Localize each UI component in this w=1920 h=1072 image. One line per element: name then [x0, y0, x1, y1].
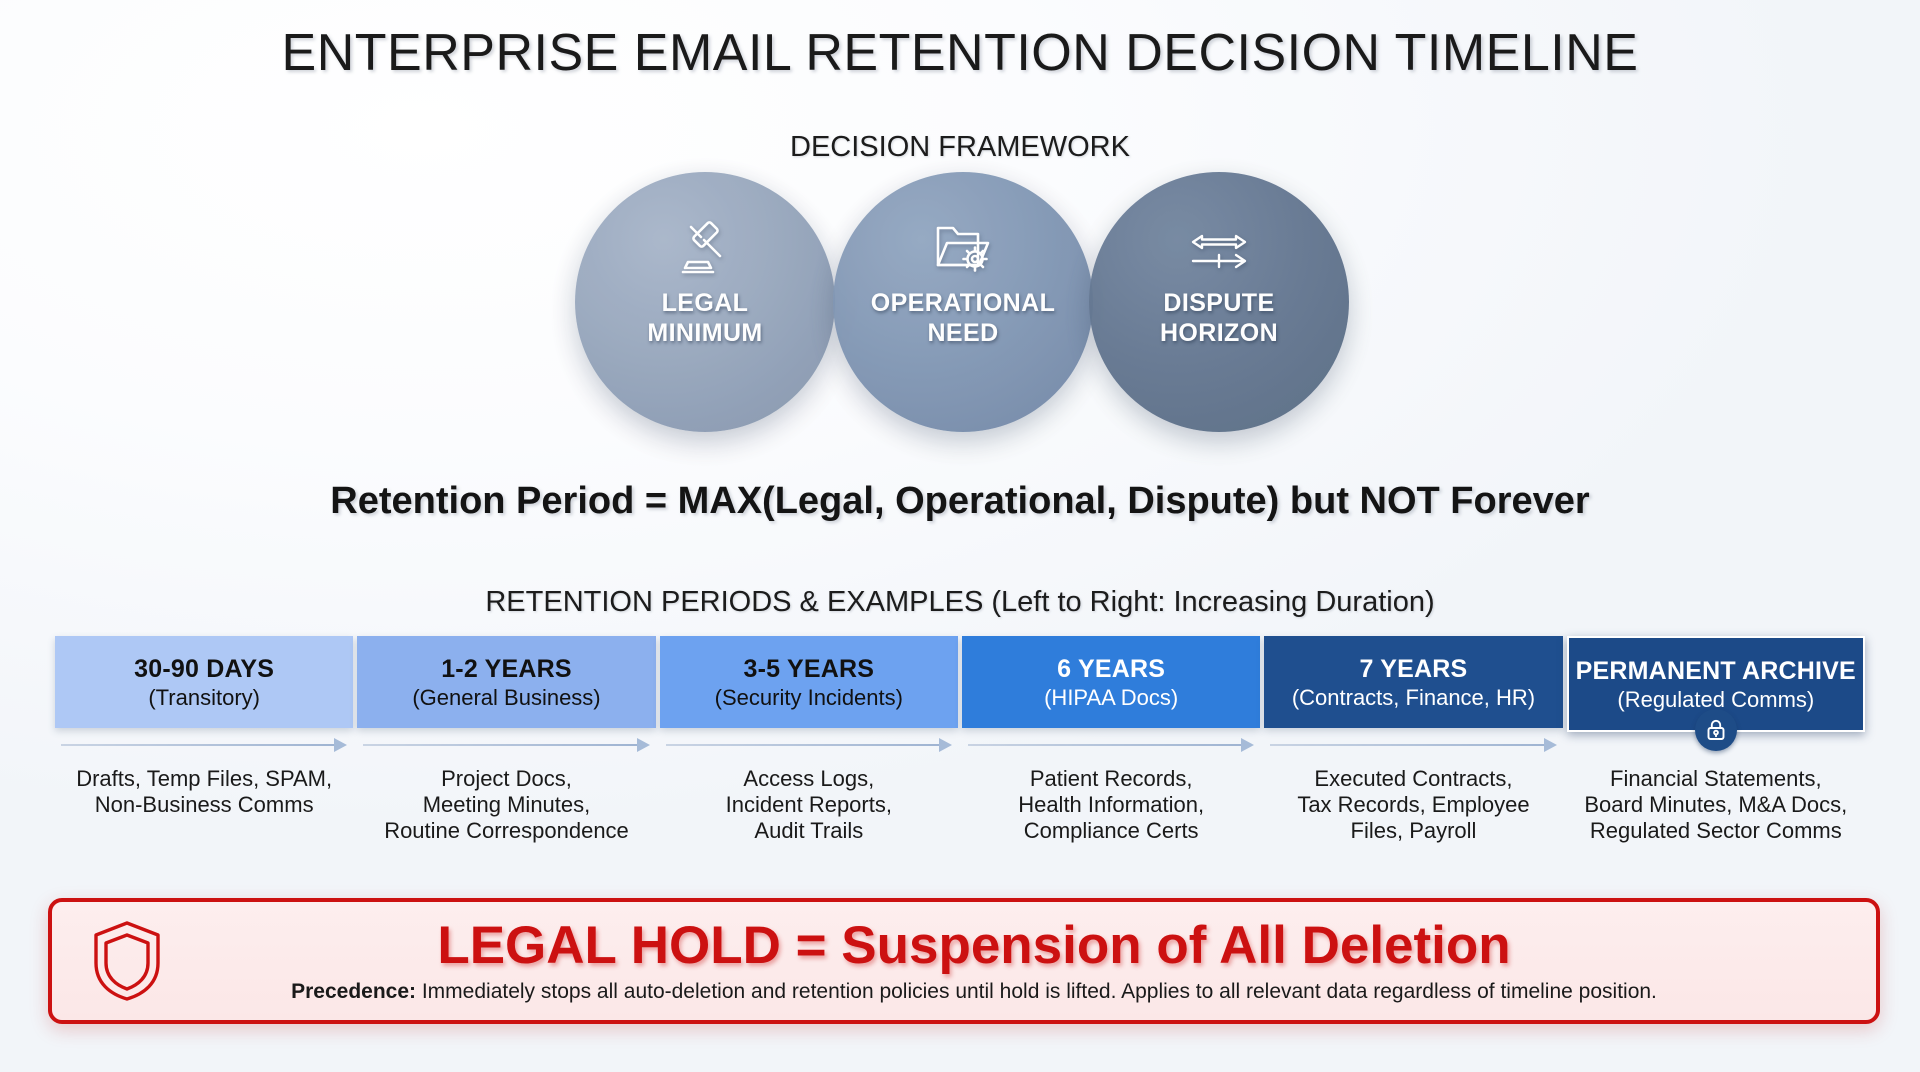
timeline-examples: Patient Records,Health Information,Compl…: [962, 766, 1260, 844]
arrow-head: [1544, 738, 1557, 752]
timeline-progress-arrow: [962, 738, 1260, 752]
timeline-column: 30-90 DAYS(Transitory): [55, 636, 353, 732]
timeline-cell[interactable]: 6 YEARS(HIPAA Docs): [962, 636, 1260, 728]
legal-hold-note-label: Precedence:: [291, 980, 416, 1003]
timeline-period-label: PERMANENT ARCHIVE: [1576, 656, 1856, 686]
timeline-example-line: Meeting Minutes,: [365, 792, 647, 818]
timeline-example-line: Patient Records,: [970, 766, 1252, 792]
venn-circle-dispute-horizon[interactable]: DISPUTE HORIZON: [1089, 172, 1349, 432]
timeline-example-line: Financial Statements,: [1575, 766, 1857, 792]
timeline-example-line: Board Minutes, M&A Docs,: [1575, 792, 1857, 818]
timeline-period-subtitle: (General Business): [412, 684, 600, 711]
timeline-examples: Project Docs,Meeting Minutes,Routine Cor…: [357, 766, 655, 844]
decision-framework-venn: LEGAL MINIMUM: [575, 172, 1350, 432]
timeline-examples-row: Drafts, Temp Files, SPAM,Non-Business Co…: [55, 766, 1865, 844]
timeline-period-label: 6 YEARS: [1057, 654, 1165, 684]
arrow-head: [637, 738, 650, 752]
venn-label-operational-need: OPERATIONAL NEED: [871, 288, 1056, 348]
timeline-example-line: Regulated Sector Comms: [1575, 818, 1857, 844]
timeline-cell[interactable]: 7 YEARS(Contracts, Finance, HR): [1264, 636, 1562, 728]
timeline-example-line: Project Docs,: [365, 766, 647, 792]
timeline-progress-arrow: [357, 738, 655, 752]
venn-label-legal-minimum: LEGAL MINIMUM: [647, 288, 762, 348]
retention-formula: Retention Period = MAX(Legal, Operationa…: [0, 478, 1920, 524]
timeline-example-line: Drafts, Temp Files, SPAM,: [63, 766, 345, 792]
framework-section-label: DECISION FRAMEWORK: [0, 130, 1920, 164]
venn-circle-operational-need[interactable]: OPERATIONAL NEED: [833, 172, 1093, 432]
timeline-arrow-row: [55, 734, 1865, 756]
infographic-page: ENTERPRISE EMAIL RETENTION DECISION TIME…: [0, 0, 1920, 1072]
arrow-head: [939, 738, 952, 752]
arrow-line: [968, 744, 1241, 746]
timeline-column: 1-2 YEARS(General Business): [357, 636, 655, 732]
venn-label-line1: LEGAL: [647, 288, 762, 318]
retention-periods-section-label: RETENTION PERIODS & EXAMPLES (Left to Ri…: [0, 585, 1920, 619]
timeline-examples: Executed Contracts,Tax Records, Employee…: [1264, 766, 1562, 844]
timeline-cell[interactable]: 3-5 YEARS(Security Incidents): [660, 636, 958, 728]
arrow-head: [1241, 738, 1254, 752]
timeline-progress-arrow: [55, 738, 353, 752]
timeline-example-line: Health Information,: [970, 792, 1252, 818]
arrow-line: [363, 744, 636, 746]
arrow-head: [334, 738, 347, 752]
legal-hold-text: LEGAL HOLD = Suspension of All Deletion …: [202, 917, 1876, 1005]
timeline-period-label: 7 YEARS: [1360, 654, 1468, 684]
timeline-examples: Access Logs,Incident Reports,Audit Trail…: [660, 766, 958, 844]
timeline-example-line: Tax Records, Employee: [1272, 792, 1554, 818]
venn-label-line1: OPERATIONAL: [871, 288, 1056, 318]
venn-label-line1: DISPUTE: [1160, 288, 1278, 318]
shield-icon: [52, 919, 202, 1003]
timeline-example-line: Non-Business Comms: [63, 792, 345, 818]
venn-label-line2: HORIZON: [1160, 318, 1278, 348]
legal-hold-banner: LEGAL HOLD = Suspension of All Deletion …: [48, 898, 1880, 1024]
timeline-cell[interactable]: 30-90 DAYS(Transitory): [55, 636, 353, 728]
retention-timeline: 30-90 DAYS(Transitory)1-2 YEARS(General …: [55, 636, 1865, 732]
timeline-period-label: 1-2 YEARS: [441, 654, 572, 684]
timeline-progress-arrow: [1264, 738, 1562, 752]
venn-label-dispute-horizon: DISPUTE HORIZON: [1160, 288, 1278, 348]
venn-circle-legal-minimum[interactable]: LEGAL MINIMUM: [575, 172, 835, 432]
timeline-period-label: 3-5 YEARS: [744, 654, 875, 684]
timeline-period-subtitle: (Security Incidents): [715, 684, 903, 711]
timeline-examples: Financial Statements,Board Minutes, M&A …: [1567, 766, 1865, 844]
arrow-line: [666, 744, 939, 746]
arrow-line: [1270, 744, 1543, 746]
timeline-period-subtitle: (Transitory): [148, 684, 260, 711]
timeline-example-line: Executed Contracts,: [1272, 766, 1554, 792]
timeline-column: 7 YEARS(Contracts, Finance, HR): [1264, 636, 1562, 732]
arrow-line: [61, 744, 334, 746]
folder-gear-icon: [933, 218, 993, 276]
timeline-example-line: Compliance Certs: [970, 818, 1252, 844]
timeline-cell[interactable]: PERMANENT ARCHIVE(Regulated Comms): [1567, 636, 1865, 732]
double-arrow-timeline-icon: [1188, 218, 1250, 276]
legal-hold-note-body: Immediately stops all auto-deletion and …: [416, 980, 1657, 1003]
gavel-icon: [674, 218, 736, 276]
venn-label-line2: NEED: [871, 318, 1056, 348]
timeline-example-line: Access Logs,: [668, 766, 950, 792]
timeline-column: 6 YEARS(HIPAA Docs): [962, 636, 1260, 732]
timeline-period-label: 30-90 DAYS: [134, 654, 274, 684]
timeline-examples: Drafts, Temp Files, SPAM,Non-Business Co…: [55, 766, 353, 844]
timeline-column: PERMANENT ARCHIVE(Regulated Comms): [1567, 636, 1865, 732]
venn-label-line2: MINIMUM: [647, 318, 762, 348]
timeline-example-line: Audit Trails: [668, 818, 950, 844]
timeline-cell[interactable]: 1-2 YEARS(General Business): [357, 636, 655, 728]
timeline-progress-arrow: [660, 738, 958, 752]
timeline-period-subtitle: (Contracts, Finance, HR): [1292, 684, 1535, 711]
timeline-column: 3-5 YEARS(Security Incidents): [660, 636, 958, 732]
legal-hold-headline: LEGAL HOLD = Suspension of All Deletion: [202, 917, 1746, 975]
legal-hold-note: Precedence: Immediately stops all auto-d…: [202, 979, 1746, 1005]
timeline-example-line: Incident Reports,: [668, 792, 950, 818]
timeline-example-line: Files, Payroll: [1272, 818, 1554, 844]
page-title: ENTERPRISE EMAIL RETENTION DECISION TIME…: [0, 22, 1920, 84]
timeline-example-line: Routine Correspondence: [365, 818, 647, 844]
timeline-period-subtitle: (HIPAA Docs): [1044, 684, 1178, 711]
